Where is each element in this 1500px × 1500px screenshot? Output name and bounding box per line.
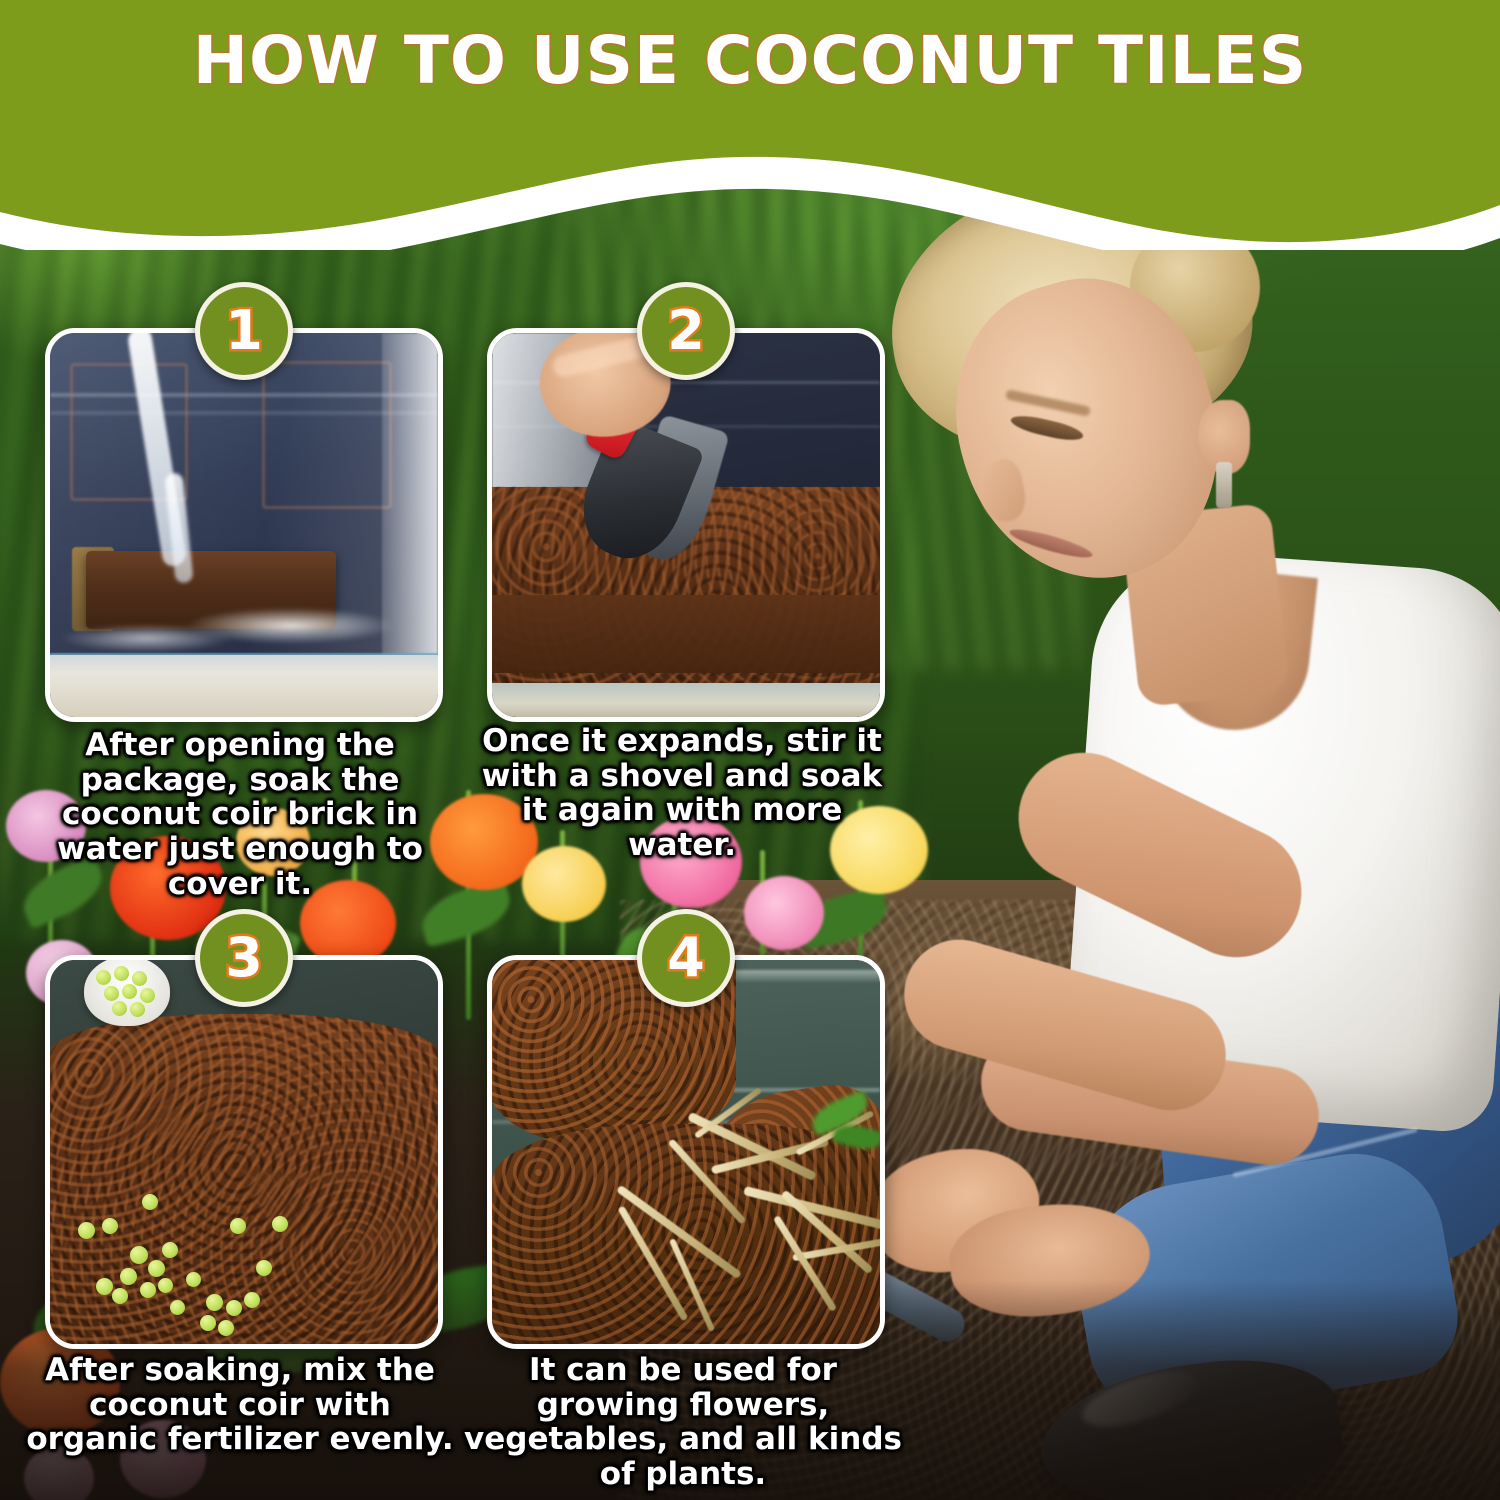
fertilizer-scoop xyxy=(84,960,170,1026)
step-3-caption: After soaking, mix the coconut coir with… xyxy=(25,1353,455,1457)
step-4-caption: It can be used for growing flowers, vege… xyxy=(463,1353,903,1492)
step-1-badge: 1 xyxy=(195,282,293,380)
page-title: HOW TO USE COCONUT TILES xyxy=(0,22,1500,99)
window-ledge xyxy=(50,655,438,717)
step-3-number: 3 xyxy=(225,931,263,985)
step-3-badge: 3 xyxy=(195,909,293,1007)
step-4-number: 4 xyxy=(667,931,705,985)
step-2-number: 2 xyxy=(667,304,705,358)
infographic-canvas: HOW TO USE COCONUT TILES xyxy=(0,0,1500,1500)
step-2-photo[interactable] xyxy=(487,328,885,722)
steps-container: 1 After opening the package, soak the co… xyxy=(0,0,1500,1500)
step-4-photo[interactable] xyxy=(487,955,885,1349)
step-1-number: 1 xyxy=(225,304,263,358)
step-1-photo[interactable] xyxy=(45,328,443,722)
step-3-photo[interactable] xyxy=(45,955,443,1349)
step-2-caption: Once it expands, stir it with a shovel a… xyxy=(467,724,897,863)
step-1-caption: After opening the package, soak the coco… xyxy=(25,728,455,902)
step-2-badge: 2 xyxy=(637,282,735,380)
step-4-badge: 4 xyxy=(637,909,735,1007)
